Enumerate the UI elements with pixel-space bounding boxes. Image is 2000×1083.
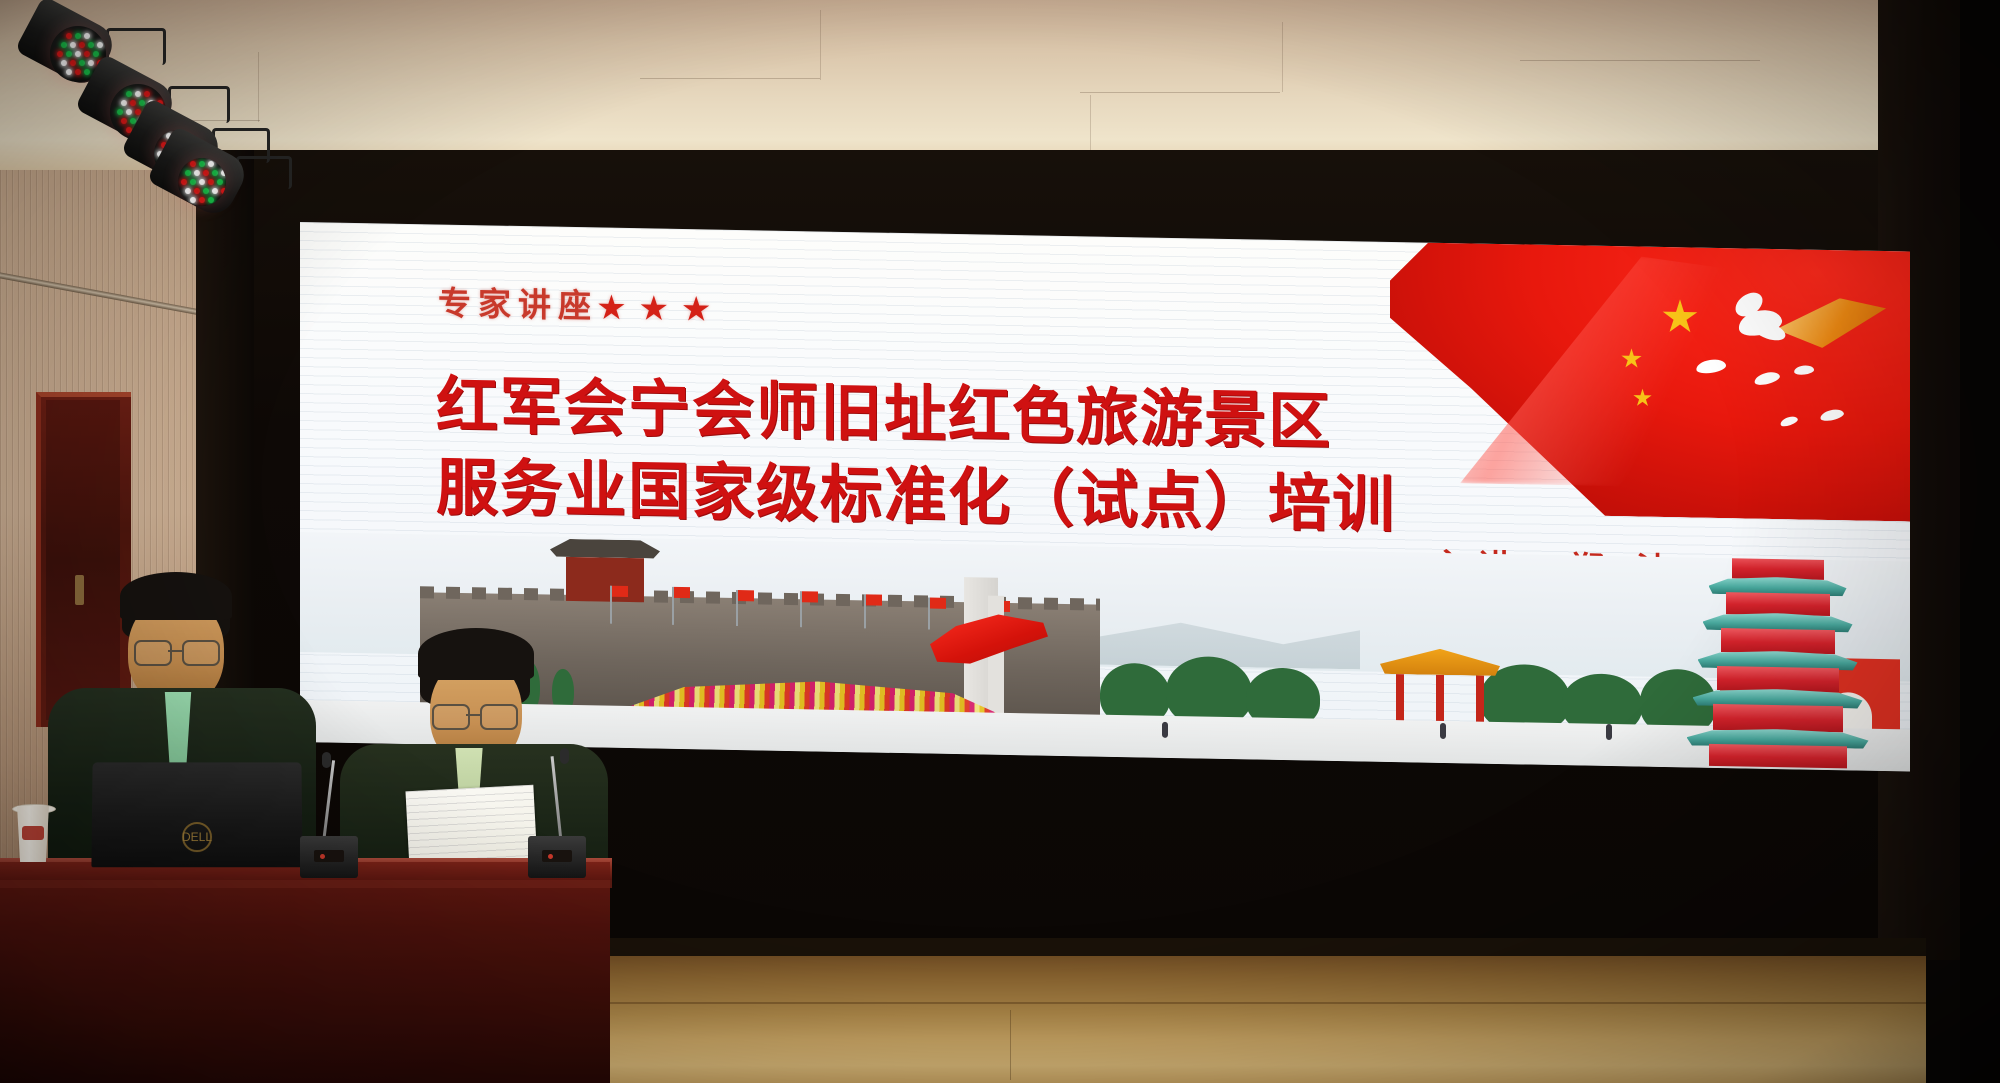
slide-eyebrow-stars: ★ ★ ★ (598, 291, 714, 326)
ceiling-seam (1520, 60, 1760, 61)
led-dot (190, 179, 196, 185)
led-dot (84, 51, 90, 57)
led-dot (88, 42, 94, 48)
slide-eyebrow: 专家讲座★ ★ ★ (438, 277, 714, 330)
pagoda-body (1713, 704, 1843, 732)
led-dot (221, 188, 226, 194)
led-dot (84, 33, 90, 39)
ceiling-seam (1282, 22, 1283, 92)
led-dot (208, 161, 214, 167)
led-dot (66, 51, 72, 57)
led-dot (217, 179, 223, 185)
chinese-flag-banner (1390, 242, 1910, 552)
dell-logo: DELL (182, 822, 212, 852)
led-dot (97, 42, 103, 48)
led-dot (66, 33, 72, 39)
led-dot (126, 91, 132, 97)
led-screen: 专家讲座★ ★ ★ 红军会宁会师旧址红色旅游景区 服务业国家级标准化（试点）培训… (300, 222, 1910, 772)
conference-hall-scene: 专家讲座★ ★ ★ 红军会宁会师旧址红色旅游景区 服务业国家级标准化（试点）培训… (0, 0, 2000, 1083)
slide-photo-band (300, 532, 1910, 772)
wall-flag (738, 590, 754, 601)
microphone-indicator (548, 854, 553, 859)
ceiling-seam (640, 78, 820, 79)
photo-pedestrian (1440, 723, 1446, 739)
light-yoke (236, 156, 292, 189)
wall-flag (612, 586, 628, 597)
ceiling-seam (1090, 95, 1091, 155)
pagoda-body (1717, 666, 1839, 692)
microphone-head[interactable] (560, 748, 569, 764)
wall-flag (802, 591, 818, 602)
glasses-lens (134, 640, 172, 666)
glasses-lens (480, 704, 518, 730)
led-dot (194, 188, 200, 194)
door-handle[interactable] (75, 575, 84, 605)
led-dot (66, 69, 72, 75)
light-lens-face (178, 158, 226, 206)
led-dot (203, 170, 209, 176)
led-dot (79, 60, 85, 66)
city-gate-tower (550, 539, 660, 603)
microphone-panel (314, 850, 344, 862)
led-dot (130, 100, 136, 106)
led-dot (75, 69, 81, 75)
led-dot (61, 42, 67, 48)
led-dot (199, 161, 205, 167)
photo-pedestrian (1606, 724, 1612, 740)
led-dot (121, 100, 127, 106)
led-dot (199, 179, 205, 185)
glasses-lens (432, 704, 470, 730)
led-dot (181, 179, 187, 185)
led-dot (75, 33, 81, 39)
led-dot (203, 188, 209, 194)
pagoda-body (1726, 592, 1830, 616)
led-dot (185, 170, 191, 176)
led-dot (75, 51, 81, 57)
led-dot (190, 197, 196, 203)
led-dot (70, 42, 76, 48)
pagoda-tower (1685, 532, 1870, 765)
podium-table (0, 862, 610, 1083)
led-dot (194, 170, 200, 176)
paper-cup-decoration (22, 826, 44, 840)
pagoda-body (1721, 628, 1835, 654)
led-dot (221, 170, 226, 176)
led-dot (84, 69, 90, 75)
podium-table-edge (0, 880, 612, 888)
led-dot (212, 188, 218, 194)
hairline (120, 572, 232, 620)
floor-seam (1010, 1010, 1011, 1080)
pavilion-roof (1380, 648, 1500, 676)
led-dot (208, 197, 214, 203)
ceiling-seam (258, 52, 259, 122)
pagoda-body (1732, 556, 1824, 580)
led-dot (93, 51, 99, 57)
led-dot (208, 179, 214, 185)
led-dot (135, 91, 141, 97)
led-dot (70, 60, 76, 66)
led-dot (185, 188, 191, 194)
glasses-bridge (466, 714, 480, 716)
led-dot (79, 42, 85, 48)
wall-flag (866, 594, 882, 605)
slide-eyebrow-text: 专家讲座 (438, 287, 598, 326)
ceiling-seam (820, 10, 821, 80)
hairline (418, 628, 534, 680)
ceiling-seam (1080, 92, 1280, 93)
microphone-indicator (320, 854, 325, 859)
led-dot (121, 118, 127, 124)
pagoda-body (1709, 744, 1847, 769)
led-dot (57, 51, 63, 57)
photo-pedestrian (1162, 722, 1168, 738)
wall-flag (674, 587, 690, 598)
microphone-head[interactable] (322, 752, 331, 768)
right-wall-edge (1960, 0, 2000, 1083)
microphone-panel (542, 850, 572, 862)
glasses-lens (182, 640, 220, 666)
led-dot (199, 197, 205, 203)
led-dot (144, 91, 150, 97)
chinese-pavilion (1380, 648, 1500, 730)
led-dot (61, 60, 67, 66)
led-dot (117, 109, 123, 115)
led-dot (88, 60, 94, 66)
side-door-panel[interactable] (46, 400, 120, 720)
led-dot (126, 109, 132, 115)
led-screen-surface: 专家讲座★ ★ ★ 红军会宁会师旧址红色旅游景区 服务业国家级标准化（试点）培训… (300, 222, 1910, 772)
led-dot (212, 170, 218, 176)
slide-title-line2: 服务业国家级标准化（试点）培训 (436, 436, 1396, 544)
glasses-bridge (168, 650, 182, 652)
laptop[interactable]: DELL (91, 762, 302, 867)
gate-tower-roof (550, 539, 660, 559)
gate-tower-body (566, 557, 644, 602)
led-dot (190, 161, 196, 167)
